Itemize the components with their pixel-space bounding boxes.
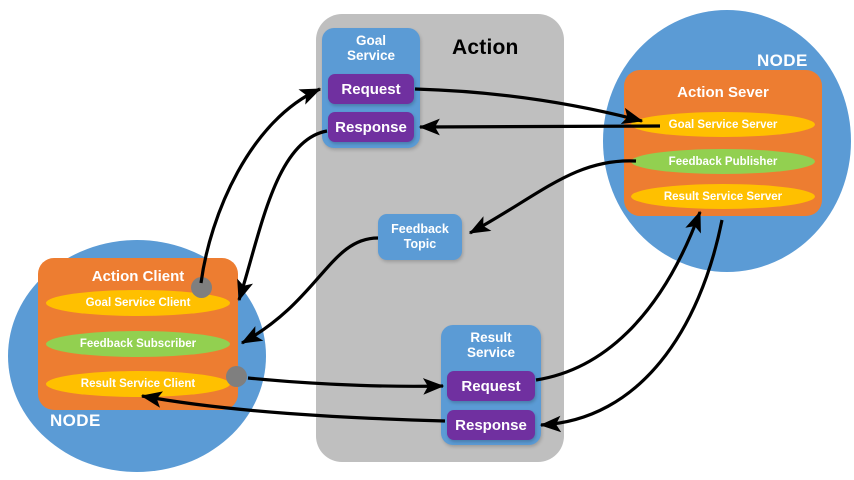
result-service-response-box[interactable]: Response: [447, 410, 535, 440]
goal-service-client-port-dot[interactable]: [191, 277, 212, 298]
feedback-publisher-label: Feedback Publisher: [669, 156, 778, 168]
server-node-label: NODE: [757, 51, 808, 71]
goal-service-client-label: Goal Service Client: [86, 297, 191, 309]
result-service-request-label: Request: [461, 378, 520, 395]
result-service-title-line1: Result: [470, 330, 511, 345]
action-diagram-canvas: Action NODE Action Client Goal Service C…: [0, 0, 854, 480]
goal-service-title-line2: Service: [347, 48, 395, 63]
action-server-title: Action Sever: [624, 84, 822, 101]
result-service-title-line2: Service: [467, 345, 515, 360]
result-service-client-ellipse[interactable]: Result Service Client: [46, 371, 230, 397]
goal-service-server-ellipse[interactable]: Goal Service Server: [631, 112, 815, 137]
goal-service-title-line1: Goal: [356, 33, 386, 48]
feedback-topic-line1: Feedback: [391, 222, 449, 236]
feedback-publisher-ellipse[interactable]: Feedback Publisher: [631, 149, 815, 174]
feedback-topic-line2: Topic: [404, 237, 436, 251]
result-service-title: Result Service: [441, 330, 541, 360]
result-service-client-label: Result Service Client: [81, 378, 195, 390]
feedback-subscriber-ellipse[interactable]: Feedback Subscriber: [46, 331, 230, 357]
result-service-response-label: Response: [455, 417, 527, 434]
result-service-client-port-dot[interactable]: [226, 366, 247, 387]
goal-service-request-box[interactable]: Request: [328, 74, 414, 104]
action-panel-title: Action: [452, 36, 519, 60]
result-service-server-ellipse[interactable]: Result Service Server: [631, 184, 815, 209]
result-service-request-box[interactable]: Request: [447, 371, 535, 401]
arrow-client-to-goal-request: [201, 89, 320, 283]
feedback-subscriber-label: Feedback Subscriber: [80, 338, 196, 350]
goal-service-response-label: Response: [335, 119, 407, 136]
result-service-server-label: Result Service Server: [664, 191, 782, 203]
goal-service-title: Goal Service: [322, 33, 420, 63]
feedback-topic-box[interactable]: Feedback Topic: [378, 214, 462, 260]
goal-service-response-box[interactable]: Response: [328, 112, 414, 142]
arrow-goal-response-to-client: [239, 131, 327, 300]
goal-service-request-label: Request: [341, 81, 400, 98]
goal-service-server-label: Goal Service Server: [669, 119, 778, 131]
client-node-label: NODE: [50, 411, 101, 431]
